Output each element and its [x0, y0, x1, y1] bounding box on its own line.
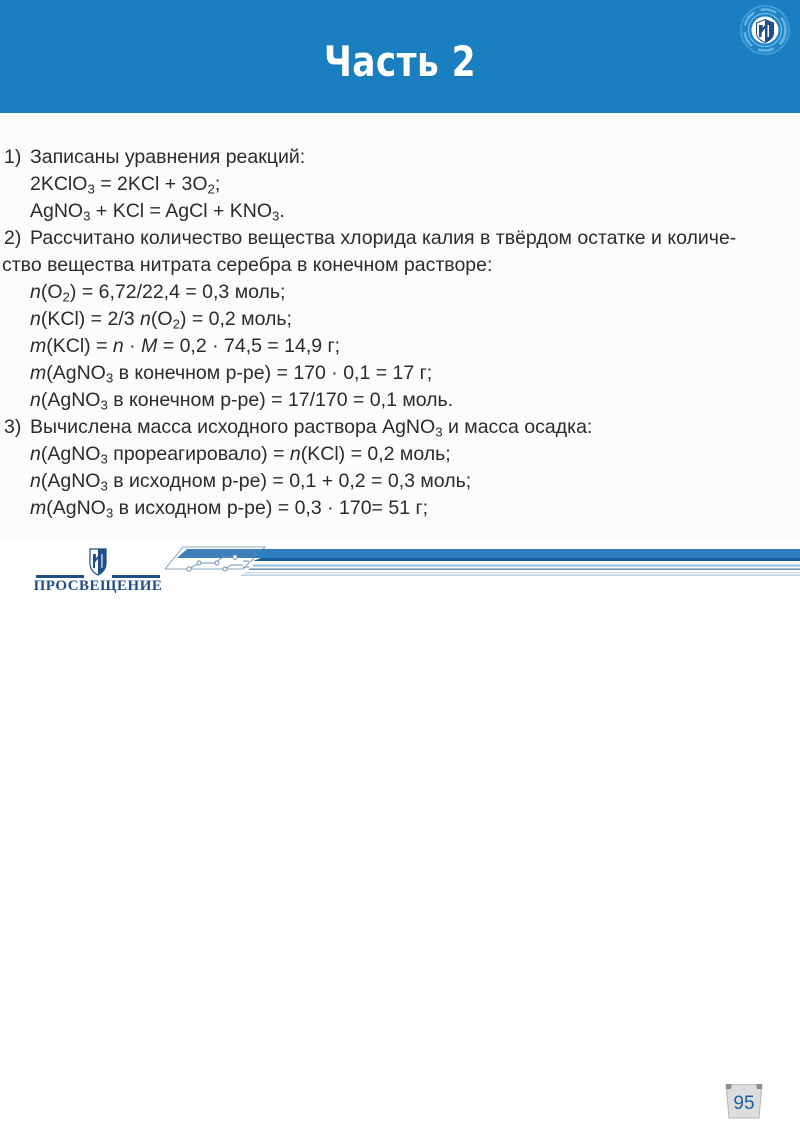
subscript: 3: [100, 398, 107, 413]
subscript: 2: [208, 182, 215, 197]
text-run: (AgNO: [41, 470, 101, 492]
step-marker: 3): [4, 414, 30, 441]
text-run: ·: [124, 335, 141, 357]
math-variable: n: [30, 443, 41, 465]
subscript: 3: [100, 452, 107, 467]
solution-step-heading: 2)Рассчитано количество вещества хлорида…: [4, 225, 794, 252]
publisher-logo: ПРОСВЕЩЕНИЕ: [28, 547, 168, 593]
text-run: (O: [151, 308, 173, 330]
text-run: в исходном р-ре) = 0,1 + 0,2 = 0,3 моль;: [108, 470, 471, 492]
formula-line: 2KClO3 = 2KCl + 3O2;: [4, 171, 794, 198]
text-run: (AgNO: [41, 389, 101, 411]
subscript: 2: [173, 317, 180, 332]
math-variable: n: [140, 308, 151, 330]
step-heading-text: Записаны уравнения реакций:: [30, 146, 305, 168]
formula-line: n(AgNO3 в конечном р-ре) = 17/170 = 0,1 …: [4, 387, 794, 414]
text-run: (O: [41, 281, 63, 303]
solution-step-heading: 3)Вычислена масса исходного раствора AgN…: [4, 414, 794, 441]
text-run: в конечном р-ре) = 17/170 = 0,1 моль.: [108, 389, 453, 411]
formula-line: n(KCl) = 2/3 n(O2) = 0,2 моль;: [4, 306, 794, 333]
text-run: ;: [215, 173, 220, 195]
text-run: и масса осадка:: [443, 416, 593, 438]
text-run: (KCl) =: [46, 335, 113, 357]
svg-text:ПРОСВЕЩЕНИЕ: ПРОСВЕЩЕНИЕ: [34, 578, 163, 593]
math-variable: M: [141, 335, 157, 357]
math-variable: n: [290, 443, 301, 465]
formula-line: n(O2) = 6,72/22,4 = 0,3 моль;: [4, 279, 794, 306]
text-run: 2KClO: [30, 173, 87, 195]
footer-decorative-graphic: [165, 541, 800, 589]
text-run: = 2KCl + 3O: [95, 173, 208, 195]
step-marker: 2): [4, 225, 30, 252]
text-run: ) = 6,72/22,4 = 0,3 моль;: [70, 281, 286, 303]
formula-line: m(KCl) = n · M = 0,2 · 74,5 = 14,9 г;: [4, 333, 794, 360]
formula-line: m(AgNO3 в исходном р-ре) = 0,3 · 170= 51…: [4, 495, 794, 522]
math-variable: n: [30, 308, 41, 330]
step-marker: 1): [4, 144, 30, 171]
math-variable: n: [113, 335, 124, 357]
text-run: (AgNO: [46, 362, 106, 384]
subscript: 3: [87, 182, 94, 197]
text-run: Вычислена масса исходного раствора AgNO: [30, 416, 435, 438]
math-variable: m: [30, 335, 46, 357]
formula-line: n(AgNO3 прореагировало) = n(KCl) = 0,2 м…: [4, 441, 794, 468]
page-number-label: 95: [724, 1093, 764, 1115]
text-run: в исходном р-ре) = 0,3 · 170= 51 г;: [113, 497, 428, 519]
text-run: AgNO: [30, 200, 83, 222]
solution-step-heading: 1)Записаны уравнения реакций:: [4, 144, 794, 171]
text-run: в конечном р-ре) = 170 · 0,1 = 17 г;: [113, 362, 432, 384]
text-run: = 0,2 · 74,5 = 14,9 г;: [157, 335, 340, 357]
page-title: Часть 2: [72, 38, 728, 86]
text-run: (KCl) = 0,2 моль;: [301, 443, 451, 465]
formula-line: m(AgNO3 в конечном р-ре) = 170 · 0,1 = 1…: [4, 360, 794, 387]
text-run: + KCl = AgCl + KNO: [90, 200, 272, 222]
text-run: (AgNO: [46, 497, 106, 519]
subscript: 3: [435, 425, 442, 440]
math-variable: m: [30, 497, 46, 519]
solution-step-heading-continued: ство вещества нитрата серебра в конечном…: [2, 252, 794, 279]
text-run: .: [279, 200, 284, 222]
step-heading-text: Рассчитано количество вещества хлорида к…: [30, 227, 736, 249]
text-run: ) = 0,2 моль;: [180, 308, 292, 330]
solution-text-block: 1)Записаны уравнения реакций:2KClO3 = 2K…: [4, 144, 794, 522]
math-variable: n: [30, 389, 41, 411]
footer-bar: ПРОСВЕЩЕНИЕ: [0, 541, 800, 600]
header-band: Часть 2: [0, 0, 800, 113]
text-run: (KCl) = 2/3: [41, 308, 140, 330]
math-variable: m: [30, 362, 46, 384]
subscript: 2: [63, 290, 70, 305]
formula-line: AgNO3 + KCl = AgCl + KNO3.: [4, 198, 794, 225]
math-variable: n: [30, 470, 41, 492]
math-variable: n: [30, 281, 41, 303]
formula-line: n(AgNO3 в исходном р-ре) = 0,1 + 0,2 = 0…: [4, 468, 794, 495]
text-run: прореагировало) =: [108, 443, 290, 465]
text-run: (AgNO: [41, 443, 101, 465]
publisher-emblem-icon: [738, 3, 792, 57]
subscript: 3: [100, 479, 107, 494]
slide-content-area: 1)Записаны уравнения реакций:2KClO3 = 2K…: [0, 116, 800, 541]
